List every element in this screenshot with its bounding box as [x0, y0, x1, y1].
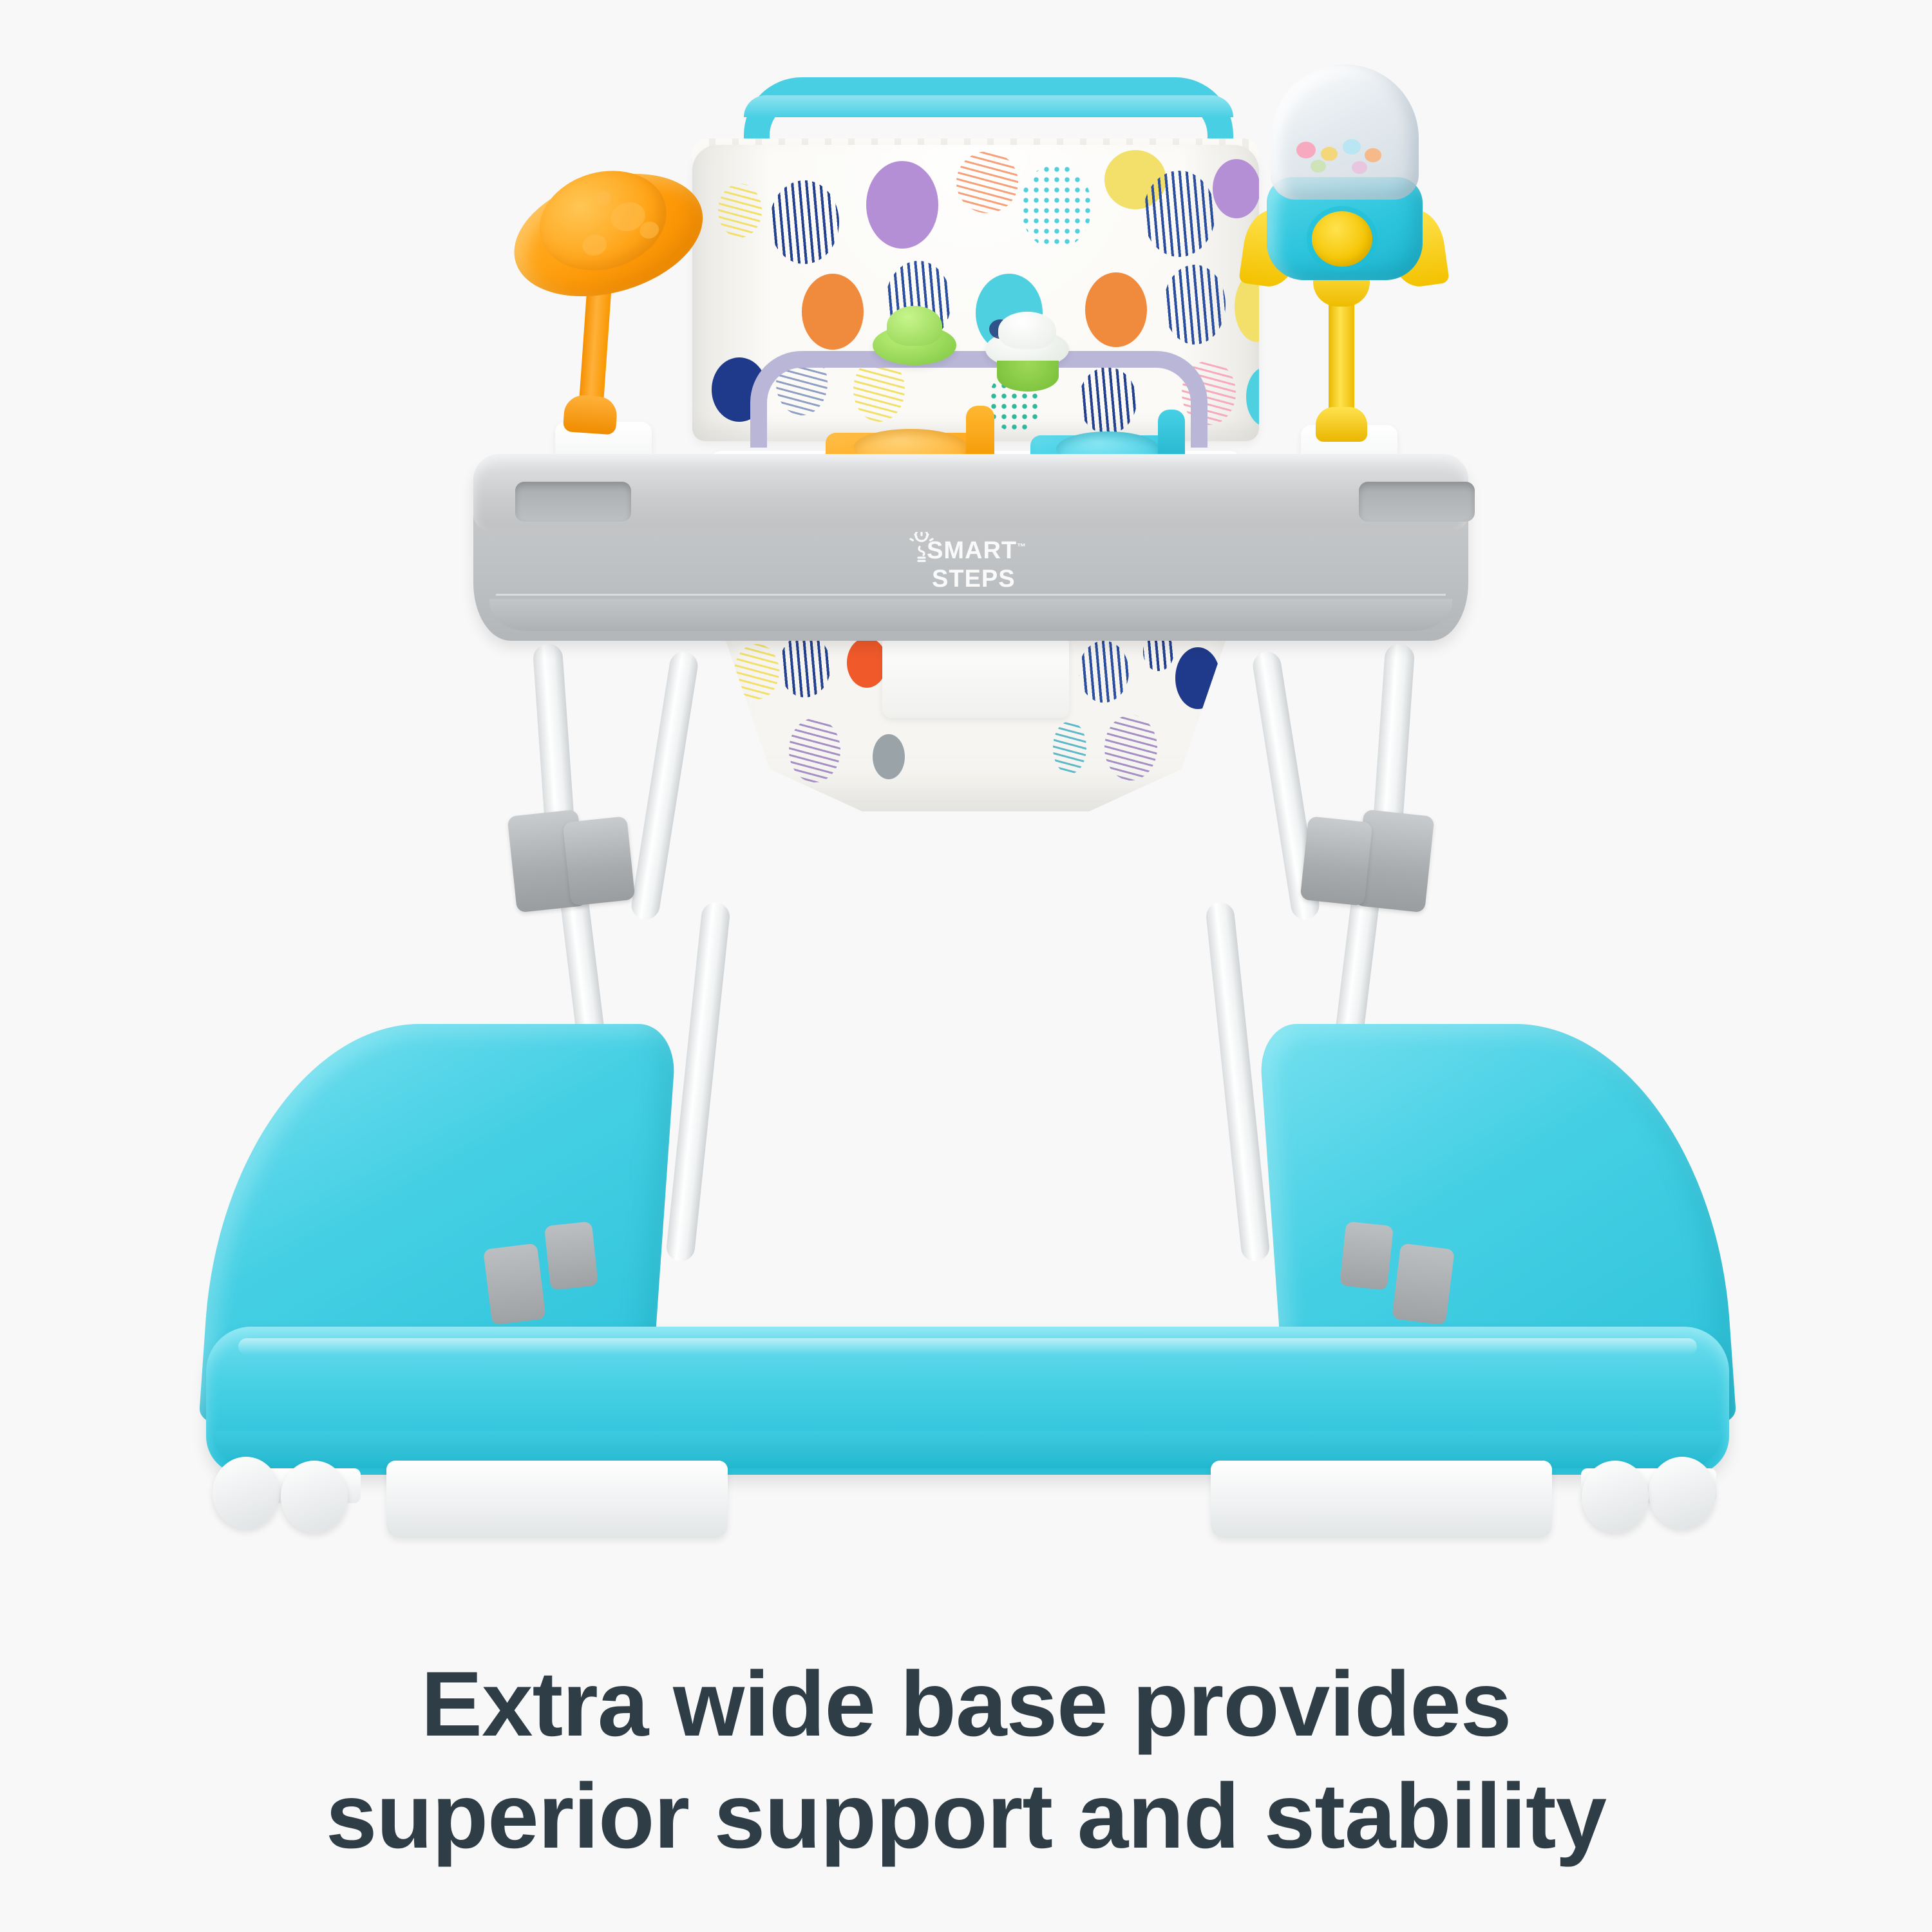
product-photo: SMART™ STEPS — [0, 0, 1932, 1623]
leg-foot-cap-right — [1392, 1243, 1455, 1325]
leg-foot-cap-left-inner — [544, 1221, 598, 1290]
product-image-stage: SMART™ STEPS — [0, 0, 1932, 1932]
rocket-clear-dome — [1271, 64, 1419, 200]
rocket-bead-1 — [1321, 147, 1338, 161]
saturn-crater-1 — [580, 232, 609, 258]
leg-lower-right-rear — [1205, 901, 1271, 1263]
green-planet-bead-icon[interactable] — [873, 325, 956, 365]
rocket-bead-2 — [1343, 139, 1361, 155]
skid-pad-right — [1211, 1461, 1552, 1538]
saturn-toy[interactable] — [495, 136, 722, 335]
rocket-toy-stem — [1329, 272, 1354, 433]
caster-wheel-right-inner[interactable] — [1582, 1461, 1649, 1533]
rocket-bead-3 — [1365, 148, 1381, 162]
seat-dot-12 — [1164, 265, 1226, 345]
seat-dot-6 — [1143, 171, 1215, 257]
height-clip-right-inner[interactable] — [1300, 816, 1372, 906]
caption-line-1: Extra wide base provides — [421, 1653, 1511, 1756]
sling-dot-7 — [1104, 715, 1157, 781]
seat-support-block — [882, 634, 1069, 718]
tray-cup-well-right — [1359, 482, 1475, 522]
leg-foot-cap-left — [483, 1243, 546, 1325]
white-planet-bead-skirt — [997, 361, 1059, 392]
sling-dot-6 — [789, 718, 840, 782]
skid-pad-left — [386, 1461, 728, 1538]
seat-dot-11 — [1085, 272, 1147, 347]
leg-foot-cap-right-inner — [1340, 1221, 1394, 1290]
caption-text: Extra wide base provides superior suppor… — [0, 1649, 1932, 1873]
rocket-bead-5 — [1352, 161, 1367, 174]
sling-dot-1 — [779, 634, 831, 697]
rocket-bead-0 — [1296, 142, 1316, 158]
caster-wheel-left-outer[interactable] — [213, 1457, 279, 1529]
sling-dot-5 — [1175, 647, 1220, 709]
caster-wheel-left-inner[interactable] — [281, 1461, 348, 1533]
leg-upper-left-inner — [629, 650, 699, 922]
seat-dot-2 — [866, 161, 938, 249]
sling-dot-3 — [1079, 641, 1129, 703]
seat-dot-8 — [802, 274, 864, 350]
seat-dot-4 — [1021, 164, 1092, 249]
rocket-toy[interactable] — [1253, 64, 1433, 425]
caption-line-2: superior support and stability — [77, 1761, 1855, 1873]
sling-dot-9 — [873, 734, 905, 779]
sling-dot-8 — [1053, 721, 1086, 774]
activity-tray-lip — [489, 599, 1452, 631]
leg-lower-left-rear — [665, 901, 731, 1263]
sling-dot-0 — [734, 644, 779, 699]
rocket-bead-4 — [1311, 160, 1326, 173]
seat-dot-3 — [956, 151, 1018, 213]
base-front-highlight — [238, 1338, 1697, 1355]
activity-tray-seam — [496, 594, 1446, 596]
seat-dot-0 — [718, 184, 762, 238]
sling-dot-2 — [847, 638, 887, 688]
height-clip-left-inner[interactable] — [562, 816, 635, 906]
caster-wheel-right-outer[interactable] — [1649, 1457, 1716, 1529]
rocket-porthole-button[interactable] — [1312, 211, 1372, 267]
tray-cup-well-left — [515, 482, 631, 522]
saturn-crater-3 — [592, 189, 612, 207]
seat-dot-1 — [770, 180, 839, 264]
